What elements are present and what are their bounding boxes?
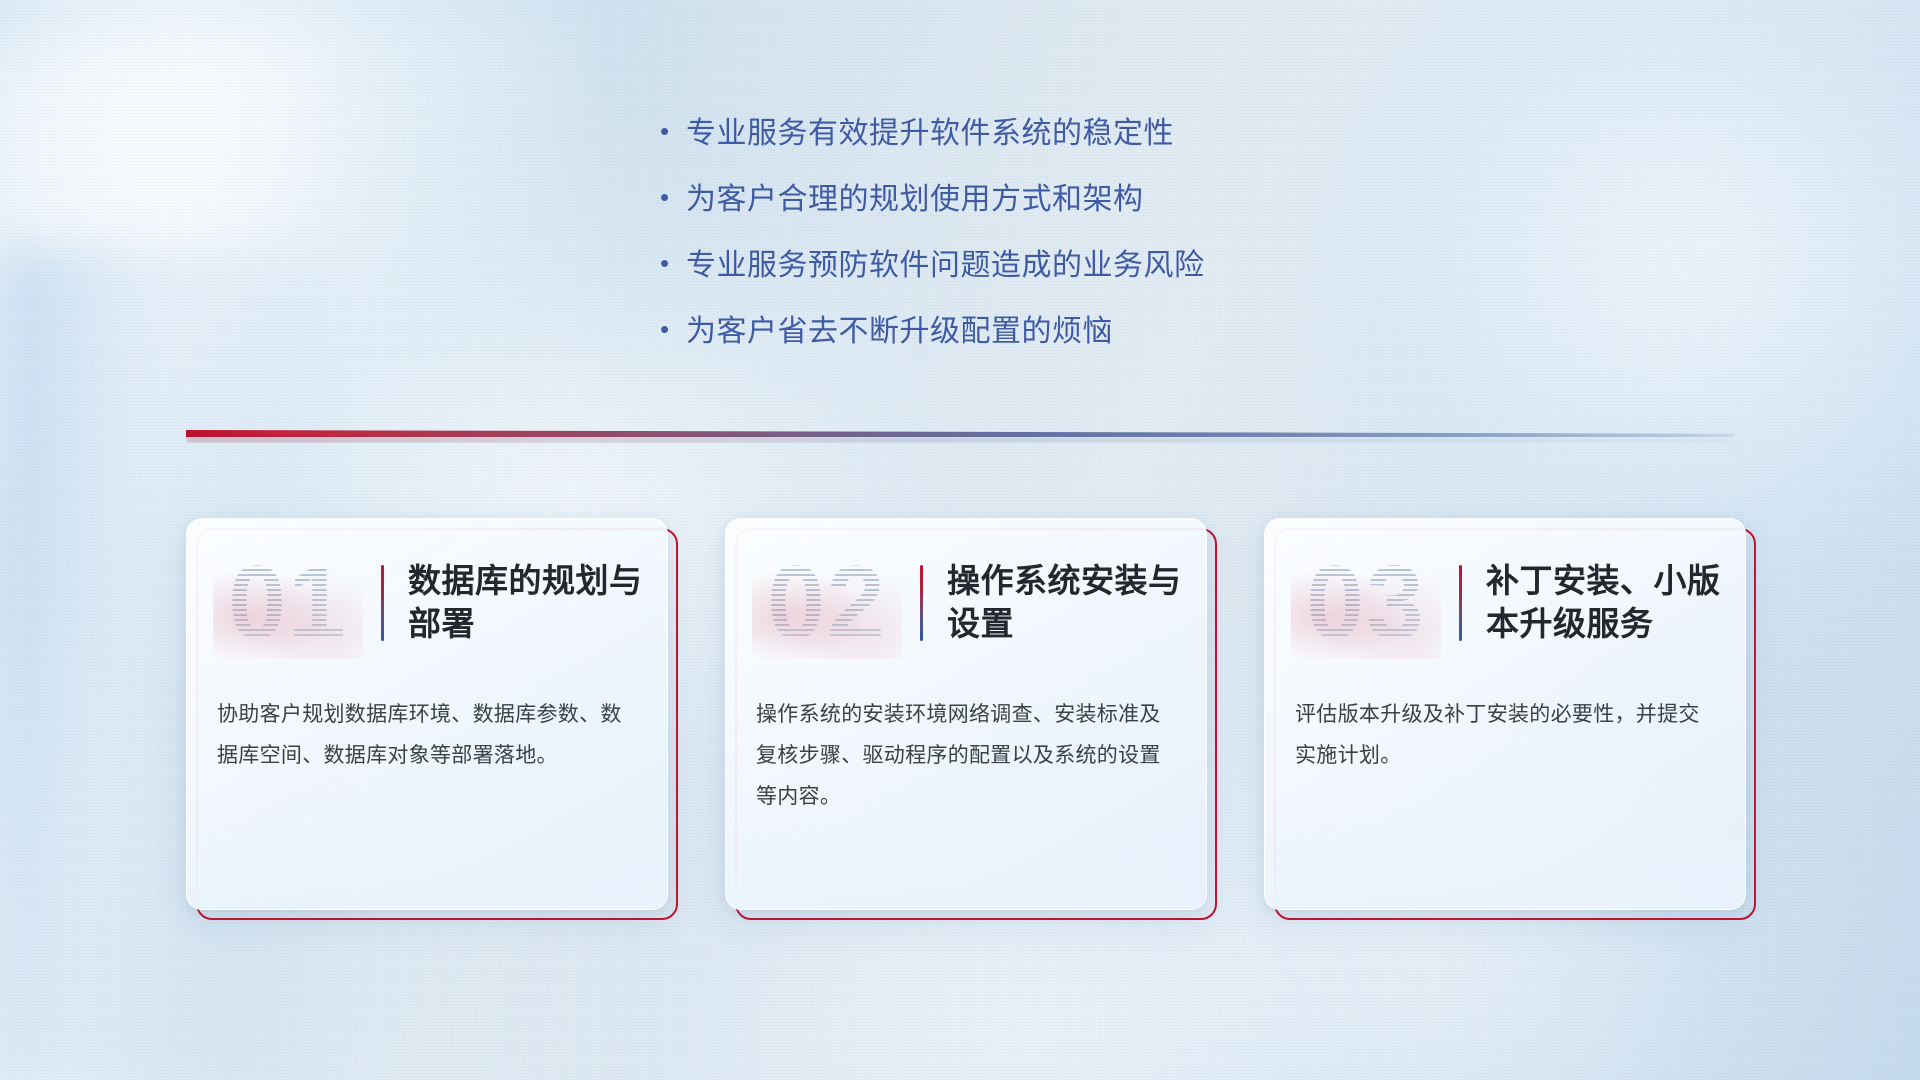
- card-title: 操作系统安装与设置: [947, 560, 1197, 646]
- benefits-bullet-list: • 专业服务有效提升软件系统的稳定性 • 为客户合理的规划使用方式和架构 • 专…: [660, 108, 1460, 372]
- list-item: • 为客户省去不断升级配置的烦恼: [660, 306, 1460, 372]
- card-bottom-fade: [1265, 819, 1745, 909]
- card-surface: 03 补丁安装、小版本升级服务 评估版本升级及补丁安装的必要性，并提交实施计划。: [1264, 518, 1746, 910]
- card-index-number: 03: [1291, 549, 1441, 657]
- service-card-03[interactable]: 03 补丁安装、小版本升级服务 评估版本升级及补丁安装的必要性，并提交实施计划。: [1264, 518, 1746, 910]
- card-bottom-fade: [726, 819, 1206, 909]
- slide-canvas: • 专业服务有效提升软件系统的稳定性 • 为客户合理的规划使用方式和架构 • 专…: [0, 0, 1920, 1080]
- card-surface: 02 操作系统安装与设置 操作系统的安装环境网络调查、安装标准及复核步骤、驱动程…: [725, 518, 1207, 910]
- service-card-group: 01 数据库的规划与部署 协助客户规划数据库环境、数据库参数、数据库空间、数据库…: [186, 518, 1746, 910]
- card-title: 数据库的规划与部署: [408, 560, 658, 646]
- card-description: 协助客户规划数据库环境、数据库参数、数据库空间、数据库对象等部署落地。: [187, 687, 667, 777]
- bullet-text: 专业服务预防软件问题造成的业务风险: [686, 240, 1205, 284]
- card-accent-bar: [381, 565, 384, 641]
- divider-shadow: [186, 436, 1734, 443]
- bullet-text: 专业服务有效提升软件系统的稳定性: [686, 108, 1174, 152]
- card-index-number: 01: [213, 549, 363, 657]
- list-item: • 专业服务预防软件问题造成的业务风险: [660, 240, 1460, 306]
- card-surface: 01 数据库的规划与部署 协助客户规划数据库环境、数据库参数、数据库空间、数据库…: [186, 518, 668, 910]
- list-item: • 专业服务有效提升软件系统的稳定性: [660, 108, 1460, 174]
- bullet-text: 为客户合理的规划使用方式和架构: [686, 174, 1144, 218]
- card-description: 操作系统的安装环境网络调查、安装标准及复核步骤、驱动程序的配置以及系统的设置等内…: [726, 687, 1206, 818]
- card-accent-bar: [920, 565, 923, 641]
- divider-line: [186, 430, 1734, 437]
- card-description: 评估版本升级及补丁安装的必要性，并提交实施计划。: [1265, 687, 1745, 777]
- service-card-01[interactable]: 01 数据库的规划与部署 协助客户规划数据库环境、数据库参数、数据库空间、数据库…: [186, 518, 668, 910]
- bullet-dot-icon: •: [660, 184, 686, 210]
- card-index-number: 02: [752, 549, 902, 657]
- card-header: 01 数据库的规划与部署: [187, 519, 667, 687]
- bullet-dot-icon: •: [660, 118, 686, 144]
- card-title: 补丁安装、小版本升级服务: [1486, 560, 1736, 646]
- card-header: 02 操作系统安装与设置: [726, 519, 1206, 687]
- bullet-dot-icon: •: [660, 250, 686, 276]
- list-item: • 为客户合理的规划使用方式和架构: [660, 174, 1460, 240]
- card-accent-bar: [1459, 565, 1462, 641]
- service-card-02[interactable]: 02 操作系统安装与设置 操作系统的安装环境网络调查、安装标准及复核步骤、驱动程…: [725, 518, 1207, 910]
- bullet-dot-icon: •: [660, 316, 686, 342]
- card-bottom-fade: [187, 819, 667, 909]
- section-divider: [186, 428, 1734, 442]
- card-header: 03 补丁安装、小版本升级服务: [1265, 519, 1745, 687]
- bullet-text: 为客户省去不断升级配置的烦恼: [686, 306, 1113, 350]
